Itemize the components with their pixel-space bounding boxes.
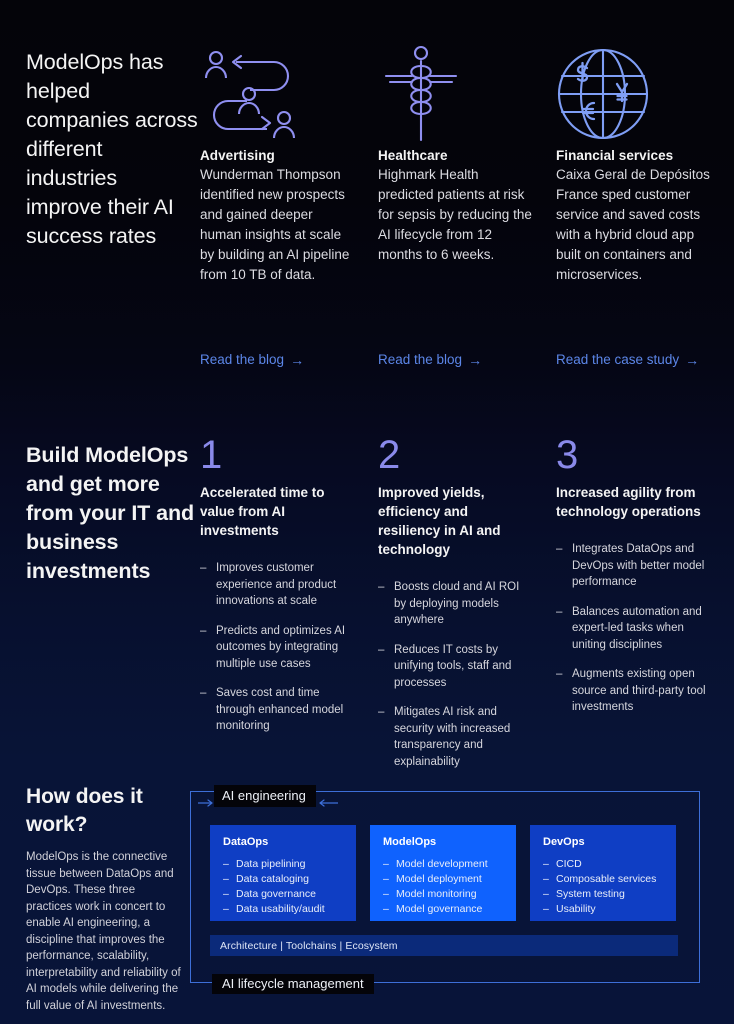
arrow-right-icon: → <box>290 353 304 367</box>
bullet-text: Augments existing open source and third-… <box>572 668 706 713</box>
people-flow-icon <box>200 40 356 148</box>
benefit-item-3: 3 Increased agility from technology oper… <box>556 433 734 783</box>
industry-card-title: Advertising <box>200 148 356 163</box>
dash-glyph: – <box>200 623 206 640</box>
how-it-works-body: ModelOps is the connective tissue betwee… <box>26 849 184 1014</box>
ops-box-list: – CICD – Composable services – System te… <box>543 857 664 917</box>
dash-glyph: – <box>223 857 229 872</box>
diagram-label-ai-engineering: AI engineering <box>214 785 316 807</box>
industry-card-body: Caixa Geral de Depósitos France sped cus… <box>556 165 712 285</box>
benefits-list: 1 Accelerated time to value from AI inve… <box>200 433 734 783</box>
ops-item-text: Data governance <box>236 888 316 900</box>
arrow-right-icon: → <box>685 353 699 367</box>
dash-glyph: – <box>223 872 229 887</box>
ops-item-text: Data cataloging <box>236 873 309 885</box>
ops-item-text: Model monitoring <box>396 888 477 900</box>
benefits-lead-heading: Build ModelOps and get more from your IT… <box>26 441 206 586</box>
dash-glyph: – <box>378 704 384 721</box>
industry-card-healthcare: Healthcare Highmark Health predicted pat… <box>378 40 556 285</box>
dash-glyph: – <box>200 685 206 702</box>
ops-item-text: Data usability/audit <box>236 903 325 915</box>
globe-currency-icon <box>556 40 712 148</box>
dash-glyph: – <box>543 872 549 887</box>
list-item: – Improves customer experience and produ… <box>200 560 356 610</box>
read-the-blog-link-healthcare[interactable]: Read the blog → <box>378 352 482 367</box>
bullet-text: Boosts cloud and AI ROI by deploying mod… <box>394 581 519 626</box>
list-item: – Augments existing open source and thir… <box>556 666 712 716</box>
list-item: – Mitigates AI risk and security with in… <box>378 704 534 770</box>
benefits-section: Build ModelOps and get more from your IT… <box>0 395 734 765</box>
industry-card-list: Advertising Wunderman Thompson identifie… <box>200 40 734 285</box>
ops-box-list: – Data pipelining – Data cataloging – Da… <box>223 857 344 917</box>
dash-glyph: – <box>383 887 389 902</box>
dash-glyph: – <box>556 541 562 558</box>
list-item: – Reduces IT costs by unifying tools, st… <box>378 642 534 692</box>
benefit-bullet-list: – Improves customer experience and produ… <box>200 560 356 735</box>
dash-glyph: – <box>556 666 562 683</box>
dash-glyph: – <box>543 887 549 902</box>
ops-box-modelops: ModelOps – Model development – Model dep… <box>370 825 516 921</box>
list-item: – Integrates DataOps and DevOps with bet… <box>556 541 712 591</box>
ops-item-text: Model deployment <box>396 873 482 885</box>
industry-card-advertising: Advertising Wunderman Thompson identifie… <box>200 40 378 285</box>
benefit-item-1: 1 Accelerated time to value from AI inve… <box>200 433 378 783</box>
list-item: – Balances automation and expert-led tas… <box>556 604 712 654</box>
list-item: – Data cataloging <box>223 872 344 887</box>
ops-box-devops: DevOps – CICD – Composable services – Sy <box>530 825 676 921</box>
industry-card-title: Healthcare <box>378 148 534 163</box>
dash-glyph: – <box>543 857 549 872</box>
ops-item-text: System testing <box>556 888 625 900</box>
industries-section: ModelOps has helped companies across dif… <box>0 0 734 395</box>
benefit-title: Accelerated time to value from AI invest… <box>200 483 356 540</box>
benefit-number: 1 <box>200 433 356 477</box>
arrow-right-icon-left-bracket <box>198 794 214 802</box>
how-it-works-section: How does it work? ModelOps is the connec… <box>0 765 734 1024</box>
bullet-text: Improves customer experience and product… <box>216 562 336 607</box>
dash-glyph: – <box>223 887 229 902</box>
dash-glyph: – <box>200 560 206 577</box>
dash-glyph: – <box>378 579 384 596</box>
link-label: Read the blog <box>378 352 462 367</box>
diagram-label-ai-lifecycle-management: AI lifecycle management <box>212 974 374 994</box>
industry-card-body: Wunderman Thompson identified new prospe… <box>200 165 356 285</box>
dash-glyph: – <box>383 872 389 887</box>
infographic-page: ModelOps has helped companies across dif… <box>0 0 734 1024</box>
dash-glyph: – <box>223 902 229 917</box>
caduceus-healthcare-icon <box>378 40 534 148</box>
industry-card-title: Financial services <box>556 148 712 163</box>
ops-box-title: ModelOps <box>383 836 504 848</box>
ops-box-list: – Model development – Model deployment –… <box>383 857 504 917</box>
list-item: – System testing <box>543 887 664 902</box>
ops-box-title: DataOps <box>223 836 344 848</box>
benefit-number: 3 <box>556 433 712 477</box>
list-item: – Composable services <box>543 872 664 887</box>
list-item: – Usability <box>543 902 664 917</box>
bullet-text: Predicts and optimizes AI outcomes by in… <box>216 625 345 670</box>
benefit-title: Increased agility from technology operat… <box>556 483 712 521</box>
dash-glyph: – <box>556 604 562 621</box>
industry-card-financial-services: Financial services Caixa Geral de Depósi… <box>556 40 734 285</box>
bullet-text: Reduces IT costs by unifying tools, staf… <box>394 644 511 689</box>
list-item: – Model governance <box>383 902 504 917</box>
list-item: – Model deployment <box>383 872 504 887</box>
list-item: – Data governance <box>223 887 344 902</box>
ops-item-text: CICD <box>556 858 582 870</box>
dash-glyph: – <box>383 902 389 917</box>
arrow-right-icon: → <box>468 353 482 367</box>
architecture-toolchains-ecosystem-bar: Architecture | Toolchains | Ecosystem <box>210 935 678 956</box>
arrow-left-icon-right-bracket <box>318 794 338 802</box>
list-item: – CICD <box>543 857 664 872</box>
ops-item-text: Usability <box>556 903 596 915</box>
link-label: Read the case study <box>556 352 679 367</box>
ops-item-text: Data pipelining <box>236 858 305 870</box>
how-it-works-heading: How does it work? <box>26 783 196 839</box>
read-the-case-study-link-financial[interactable]: Read the case study → <box>556 352 699 367</box>
ops-item-text: Composable services <box>556 873 656 885</box>
list-item: – Saves cost and time through enhanced m… <box>200 685 356 735</box>
benefit-item-2: 2 Improved yields, efficiency and resili… <box>378 433 556 783</box>
dash-glyph: – <box>383 857 389 872</box>
benefit-title: Improved yields, efficiency and resilien… <box>378 483 534 559</box>
list-item: – Model monitoring <box>383 887 504 902</box>
ops-box-dataops: DataOps – Data pipelining – Data catalog… <box>210 825 356 921</box>
bullet-text: Saves cost and time through enhanced mod… <box>216 687 343 732</box>
read-the-blog-link-advertising[interactable]: Read the blog → <box>200 352 304 367</box>
ops-item-text: Model development <box>396 858 488 870</box>
bullet-text: Balances automation and expert-led tasks… <box>572 606 702 651</box>
ops-item-text: Model governance <box>396 903 482 915</box>
bullet-text: Mitigates AI risk and security with incr… <box>394 706 510 768</box>
list-item: – Predicts and optimizes AI outcomes by … <box>200 623 356 673</box>
benefit-bullet-list: – Integrates DataOps and DevOps with bet… <box>556 541 712 716</box>
ops-box-row: DataOps – Data pipelining – Data catalog… <box>210 825 678 921</box>
dash-glyph: – <box>543 902 549 917</box>
list-item: – Boosts cloud and AI ROI by deploying m… <box>378 579 534 629</box>
ai-engineering-diagram: AI engineering DataOps – Data pipelining… <box>190 785 700 985</box>
industry-card-body: Highmark Health predicted patients at ri… <box>378 165 534 265</box>
ops-box-title: DevOps <box>543 836 664 848</box>
bullet-text: Integrates DataOps and DevOps with bette… <box>572 543 704 588</box>
industries-lead-heading: ModelOps has helped companies across dif… <box>26 48 198 251</box>
list-item: – Data usability/audit <box>223 902 344 917</box>
dash-glyph: – <box>378 642 384 659</box>
list-item: – Model development <box>383 857 504 872</box>
list-item: – Data pipelining <box>223 857 344 872</box>
link-label: Read the blog <box>200 352 284 367</box>
benefit-number: 2 <box>378 433 534 477</box>
benefit-bullet-list: – Boosts cloud and AI ROI by deploying m… <box>378 579 534 770</box>
